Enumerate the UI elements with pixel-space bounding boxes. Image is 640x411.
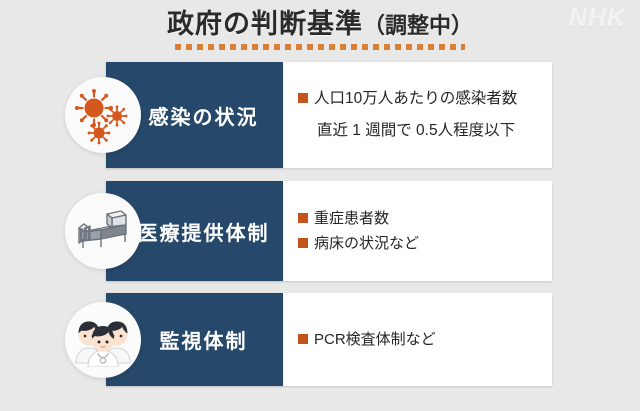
criteria-content-panel: PCR検査体制など	[283, 293, 552, 386]
criteria-label: 医療提供体制	[138, 217, 270, 246]
criteria-row: 感染の状況 人口10万人あたりの感染者数 直近 1 週間で 0.5人程度以下	[106, 62, 552, 168]
page-title: 政府の判断基準（調整中）	[0, 8, 640, 50]
page-title-sub: （調整中）	[363, 13, 473, 38]
criteria-bullet: 重症患者数	[298, 207, 552, 230]
page-title-main: 政府の判断基準	[167, 9, 363, 39]
virus-icon	[65, 77, 141, 153]
criteria-subline: 直近 1 週間で 0.5人程度以下	[298, 119, 552, 143]
criteria-label: 感染の状況	[149, 101, 259, 130]
criteria-bullet: 人口10万人あたりの感染者数	[298, 87, 552, 111]
criteria-bullet-text: 人口10万人あたりの感染者数	[314, 87, 517, 111]
criteria-label-panel: 監視体制	[106, 293, 283, 386]
bullet-square-icon	[298, 238, 308, 248]
criteria-content-panel: 人口10万人あたりの感染者数 直近 1 週間で 0.5人程度以下	[283, 62, 552, 168]
title-underline-dots	[175, 44, 465, 50]
criteria-bullet-text: 病床の状況など	[314, 232, 419, 255]
criteria-row: 監視体制 PCR検査体制など	[106, 293, 552, 386]
criteria-label-panel: 感染の状況	[106, 62, 283, 168]
bullet-square-icon	[298, 93, 308, 103]
hospital-bed-icon	[65, 193, 141, 269]
criteria-row: 医療提供体制 重症患者数 病床の状況など	[106, 181, 552, 281]
bullet-square-icon	[298, 213, 308, 223]
medical-staff-icon	[65, 302, 141, 378]
bullet-square-icon	[298, 334, 308, 344]
criteria-bullet-text: PCR検査体制など	[314, 328, 436, 351]
criteria-bullet: PCR検査体制など	[298, 328, 552, 351]
criteria-content-panel: 重症患者数 病床の状況など	[283, 181, 552, 281]
criteria-bullet-text: 重症患者数	[314, 207, 389, 230]
criteria-label-panel: 医療提供体制	[106, 181, 283, 281]
criteria-label: 監視体制	[160, 325, 248, 354]
criteria-bullet: 病床の状況など	[298, 232, 552, 255]
